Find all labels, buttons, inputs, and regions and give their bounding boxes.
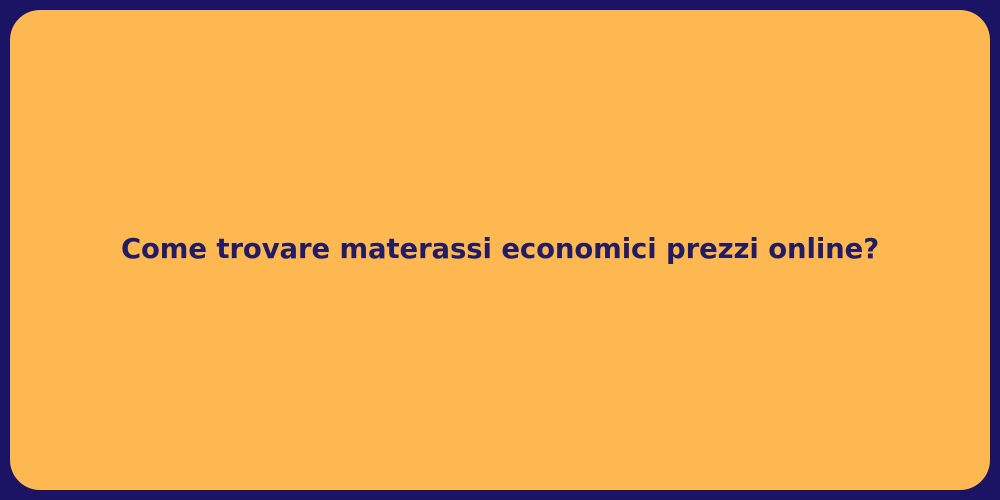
page-background: Come trovare materassi economici prezzi … [0,0,1000,500]
card-content-area: Come trovare materassi economici prezzi … [10,231,990,268]
page-title: Come trovare materassi economici prezzi … [121,231,879,268]
content-card: Come trovare materassi economici prezzi … [10,10,990,490]
